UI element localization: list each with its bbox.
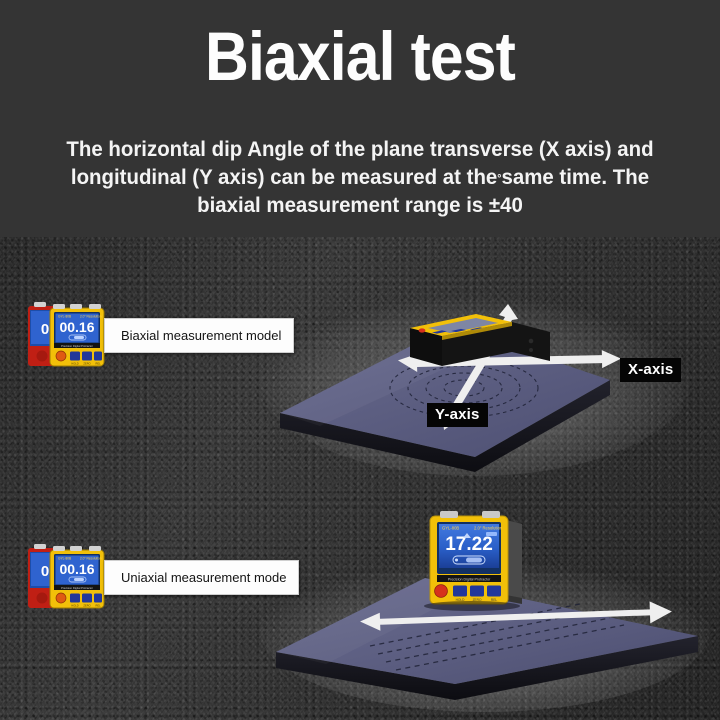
front-device-reading: 00.16	[59, 319, 94, 335]
device-front-yellow: GYL-80B 2.0" Resolution 00.16 Precision …	[50, 304, 104, 366]
lcd-brand-right: 2.0" Resolution	[474, 526, 503, 531]
inset-biaxial: 0 GYL-80B 2.0" Resolution 0	[26, 296, 294, 374]
scene-uniaxial: GYL-80B 2.0" Resolution 17.22 Precision …	[250, 500, 720, 715]
inset-uniaxial: 0 GYL-80B 2.0" Resolution 00.16	[26, 538, 299, 616]
header-band: Biaxial test The horizontal dip Angle of…	[0, 0, 720, 237]
subtitle-line-1: The horizontal dip Angle of the plane tr…	[66, 137, 611, 161]
x-axis-label: X-axis	[620, 358, 681, 382]
y-axis-label: Y-axis	[427, 403, 488, 427]
svg-text:REL: REL	[491, 598, 497, 602]
lcd-brand-left: GYL-80B	[442, 526, 459, 531]
svg-text:ZERO: ZERO	[83, 604, 90, 608]
rel-button	[487, 586, 501, 597]
svg-text:GYL-80B: GYL-80B	[58, 315, 71, 319]
back-device-reading: 0	[41, 563, 49, 580]
lcd-footer-text: Precision Digital Protractor	[448, 577, 491, 581]
svg-text:REL: REL	[95, 604, 101, 608]
infographic-page: Biaxial test The horizontal dip Angle of…	[0, 0, 720, 720]
device-pair-top: 0 GYL-80B 2.0" Resolution 0	[26, 296, 108, 374]
back-device-reading: 0	[41, 321, 49, 338]
subtitle-line-2-tail: same	[501, 165, 553, 189]
svg-text:Precision Digital Protractor: Precision Digital Protractor	[61, 586, 93, 590]
device-front-yellow: GYL-80B 2.0" Resolution 00.16 Precision …	[50, 546, 104, 608]
zero-button	[470, 586, 484, 597]
callout-uniaxial: Uniaxial measurement mode	[104, 560, 299, 595]
hold-button	[453, 586, 467, 597]
front-device-reading: 00.16	[59, 561, 94, 577]
svg-text:HOLD: HOLD	[71, 604, 78, 608]
power-button	[435, 585, 448, 598]
svg-text:GYL-80B: GYL-80B	[58, 557, 71, 561]
svg-text:2.0" Resolution: 2.0" Resolution	[80, 315, 102, 319]
svg-text:ZERO: ZERO	[83, 362, 90, 366]
callout-biaxial: Biaxial measurement model	[104, 318, 294, 353]
page-subtitle: The horizontal dip Angle of the plane tr…	[45, 136, 676, 220]
svg-text:Precision Digital Protractor: Precision Digital Protractor	[61, 344, 93, 348]
svg-text:REL: REL	[95, 362, 101, 366]
svg-text:HOLD: HOLD	[71, 362, 78, 366]
svg-text:2.0" Resolution: 2.0" Resolution	[80, 557, 102, 561]
page-title: Biaxial test	[43, 22, 677, 91]
device-upright: GYL-80B 2.0" Resolution 17.22 Precision …	[424, 511, 522, 611]
device-pair-bottom: 0 GYL-80B 2.0" Resolution 00.16	[26, 538, 108, 616]
